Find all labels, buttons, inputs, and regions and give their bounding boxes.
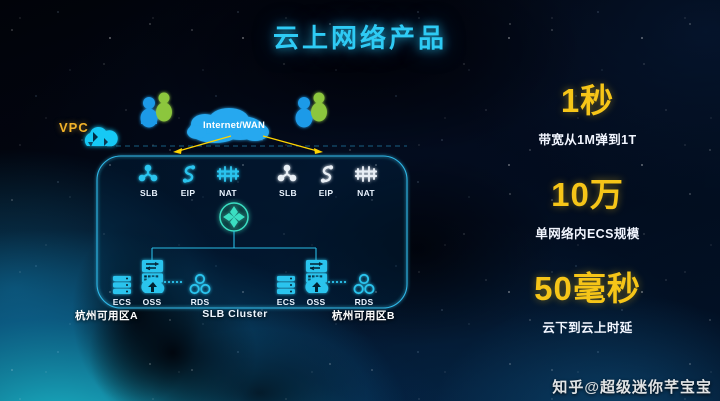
internet-wan-label: Internet/WAN — [203, 120, 265, 131]
stat-number: 1秒 — [455, 82, 720, 120]
stat-caption: 带宽从1M弹到1T — [455, 129, 720, 148]
stat-item-1: 1秒 带宽从1M弹到1T — [455, 82, 720, 148]
network-diagram: VPC Internet/WAN SLB EIP NAT SLB EIP NAT… — [55, 78, 415, 343]
user-icon — [141, 97, 158, 128]
ecs-server-icon — [113, 276, 131, 294]
zone-label-right: 杭州可用区B — [332, 308, 395, 323]
stat-caption: 云下到云上时延 — [455, 317, 720, 336]
user-icon — [156, 93, 172, 122]
user-group-right — [296, 93, 328, 128]
ecs-server-icon — [277, 276, 295, 294]
slide-root: 云上网络产品 — [0, 0, 720, 401]
label-nat-left: NAT — [212, 188, 244, 198]
label-ecs-right: ECS — [270, 297, 302, 307]
slb-cluster-router-icon — [220, 203, 248, 231]
watermark-author: 超级迷你芊宝宝 — [600, 379, 712, 396]
watermark-at: @ — [584, 379, 600, 396]
vpc-cloud-icon — [85, 127, 118, 147]
stat-item-2: 10万 单网络内ECS规模 — [455, 176, 720, 242]
label-ecs-left: ECS — [106, 297, 138, 307]
label-eip-right: EIP — [310, 188, 342, 198]
stat-item-3: 50毫秒 云下到云上时延 — [455, 270, 720, 336]
stat-caption: 单网络内ECS规模 — [455, 223, 720, 242]
zone-label-left: 杭州可用区A — [75, 308, 138, 323]
label-eip-left: EIP — [172, 188, 204, 198]
stat-number: 10万 — [455, 176, 720, 214]
user-group-left — [141, 93, 173, 128]
stat-number: 50毫秒 — [455, 270, 720, 308]
vpc-label: VPC — [59, 120, 89, 135]
page-title: 云上网络产品 — [0, 18, 720, 55]
traffic-arrow-heads — [173, 148, 323, 154]
label-rds-left: RDS — [184, 297, 216, 307]
label-slb-right: SLB — [272, 188, 304, 198]
user-icon — [311, 93, 327, 122]
user-icon — [296, 97, 313, 128]
label-rds-right: RDS — [348, 297, 380, 307]
watermark-site: 知乎 — [552, 379, 584, 396]
zone-label-middle: SLB Cluster — [202, 308, 268, 323]
label-oss-left: OSS — [136, 297, 168, 307]
stats-column: 1秒 带宽从1M弹到1T 10万 单网络内ECS规模 50毫秒 云下到云上时延 — [455, 82, 720, 364]
label-slb-left: SLB — [133, 188, 165, 198]
label-oss-right: OSS — [300, 297, 332, 307]
zone-label-row: 杭州可用区A SLB Cluster 杭州可用区B — [55, 308, 415, 323]
label-nat-right: NAT — [350, 188, 382, 198]
watermark: 知乎@超级迷你芊宝宝 — [552, 376, 712, 397]
